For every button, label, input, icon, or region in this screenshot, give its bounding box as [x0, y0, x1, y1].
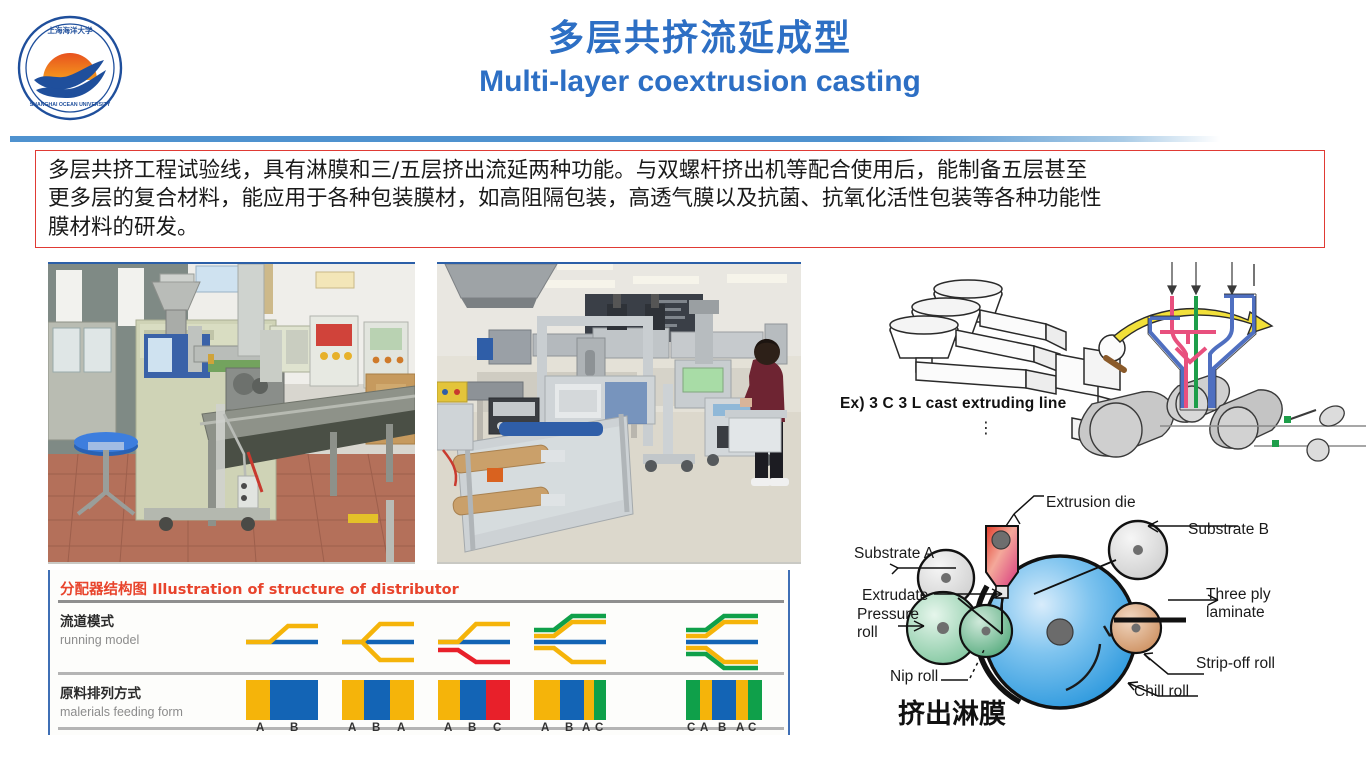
svg-text:A: A [582, 722, 590, 734]
svg-text:A: A [444, 722, 452, 734]
shanghai-ocean-university-logo: 上海海洋大学 SHANGHAI OCEAN UNIVERSITY 1912 [16, 14, 124, 122]
label-chill-roll: Chill roll [1134, 683, 1189, 701]
leader-strip-off-roll [1144, 654, 1204, 674]
page-title: 多层共挤流延成型 Multi-layer coextrusion casting [200, 18, 1200, 100]
label-substrate-b: Substrate B [1188, 521, 1269, 539]
description-line-2: 更多层的复合材料，能应用于各种包装膜材，如高阻隔包装，高透气膜以及抗菌、抗氧化活… [48, 185, 1314, 213]
label-extrusion-die: Extrusion die [1046, 494, 1136, 512]
photo-multilayer-cast-film-line-with-operator [437, 262, 801, 564]
svg-text:A: A [736, 722, 744, 734]
logo-year: 1912 [64, 92, 75, 98]
cast-line-caption: Ex) 3 C 3 L cast extruding line [840, 395, 1066, 413]
flow-pattern-2 [342, 624, 414, 660]
layer-stack-3: A B C [438, 680, 510, 734]
label-extrusion-coating-cn: 挤出淋膜 [898, 692, 1006, 731]
svg-text:A: A [700, 722, 708, 734]
header-divider [10, 136, 1220, 142]
svg-text:C: C [687, 722, 695, 734]
flow-pattern-3 [438, 624, 510, 662]
label-nip-roll: Nip roll [890, 668, 938, 686]
svg-text:B: B [718, 722, 726, 734]
label-strip-off-roll: Strip-off roll [1196, 655, 1275, 673]
logo-text-cn: 上海海洋大学 [48, 25, 93, 35]
leader-extrusion-die [1014, 496, 1044, 514]
svg-text:A: A [397, 722, 405, 734]
label-pressure-roll: Pressure roll [857, 606, 919, 643]
layer-stack-1: A B [246, 680, 318, 734]
svg-text:C: C [595, 722, 603, 734]
svg-text:A: A [348, 722, 356, 734]
svg-text:B: B [290, 722, 298, 734]
flow-pattern-1 [246, 626, 318, 642]
distributor-panel: 分配器结构图 Illustration of structure of dist… [48, 570, 790, 735]
svg-text:B: B [372, 722, 380, 734]
slide-root: 上海海洋大学 SHANGHAI OCEAN UNIVERSITY 1912 多层… [0, 0, 1366, 768]
photo-lab-single-screw-extruder-line [48, 262, 415, 564]
flow-pattern-4 [534, 616, 606, 662]
description-line-3: 膜材料的研发。 [48, 214, 1314, 242]
svg-text:C: C [748, 722, 756, 734]
distributor-diagrams: A B A B A A B C [50, 570, 792, 735]
layer-stacks: A B A B A A B C [246, 680, 762, 734]
description-box: 多层共挤工程试验线，具有淋膜和三/五层挤出流延两种功能。与双螺杆挤出机等配合使用… [35, 150, 1325, 248]
svg-text:A: A [256, 722, 264, 734]
flow-pattern-5 [686, 616, 758, 668]
title-chinese: 多层共挤流延成型 [200, 18, 1200, 59]
title-english: Multi-layer coextrusion casting [200, 65, 1200, 100]
label-substrate-a: Substrate A [854, 545, 934, 563]
svg-text:B: B [468, 722, 476, 734]
cast-extruding-line-diagram [820, 258, 1366, 463]
layer-stack-4: A B A C [534, 680, 606, 734]
cast-line-caption-colon: ⋮ [978, 418, 994, 438]
description-line-1: 多层共挤工程试验线，具有淋膜和三/五层挤出流延两种功能。与双螺杆挤出机等配合使用… [48, 157, 1314, 185]
layer-stack-2: A B A [342, 680, 414, 734]
svg-text:A: A [541, 722, 549, 734]
label-extrudate: Extrudate [862, 587, 928, 605]
layer-stack-5: C A B A C [686, 680, 762, 734]
label-three-ply-laminate: Three ply laminate [1206, 586, 1271, 623]
logo-text-en: SHANGHAI OCEAN UNIVERSITY [30, 102, 111, 108]
svg-text:C: C [493, 722, 501, 734]
svg-text:B: B [565, 722, 573, 734]
